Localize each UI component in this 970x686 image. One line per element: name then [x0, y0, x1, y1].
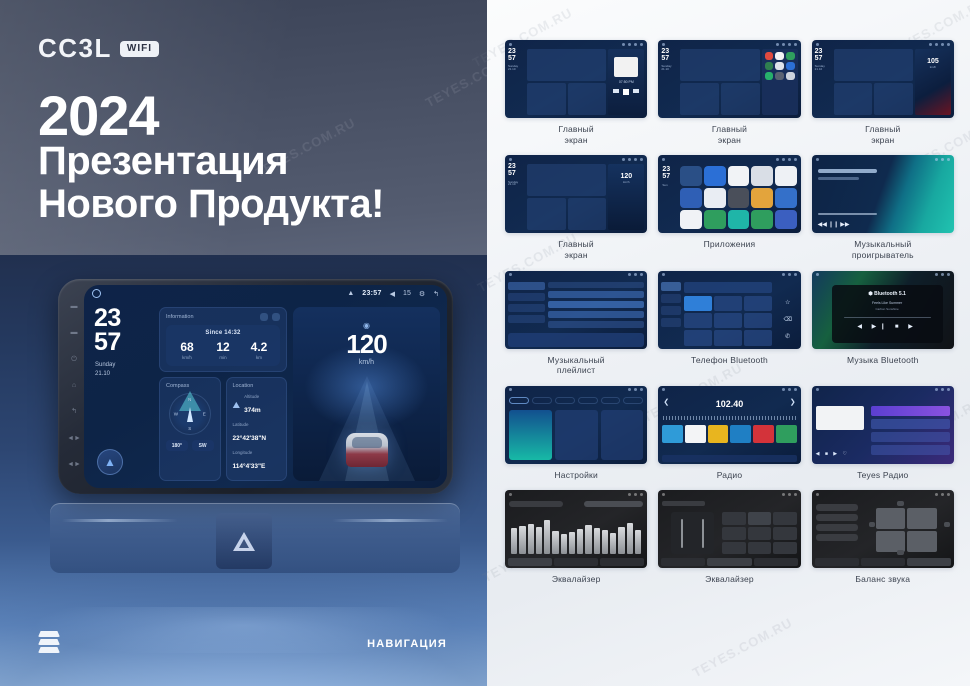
clock-minutes: 57	[91, 331, 153, 355]
gallery-item[interactable]: Баланс звука	[812, 490, 954, 585]
gallery-caption: Главныйэкран	[559, 124, 594, 145]
radio-frequency: 102.40	[658, 399, 800, 409]
stat-unit: km	[241, 355, 277, 360]
balance-left-button[interactable]	[869, 522, 875, 527]
next-station-icon[interactable]: ❯	[790, 398, 796, 406]
thumb-speed-value: 105	[927, 58, 939, 65]
gallery-caption: Главныйэкран	[865, 124, 900, 145]
speed-unit: km/h	[293, 359, 440, 366]
mountain-icon: ⛰	[233, 400, 241, 411]
layers-icon[interactable]	[38, 631, 60, 653]
information-card-title: Information	[166, 314, 194, 320]
stat-value: 4.2	[241, 341, 277, 353]
balance-down-button[interactable]	[897, 550, 904, 555]
compass-w: W	[174, 412, 178, 417]
hero-footer: НАВИГАЦИЯ	[0, 600, 487, 686]
expand-icon[interactable]	[272, 313, 280, 321]
compass-e: E	[203, 412, 206, 417]
gallery-item[interactable]: 2357Sunday21.10 07:50 PM Главныйэкран	[505, 40, 647, 145]
product-logo: CC3L WIFI	[38, 33, 159, 64]
gallery-caption: Музыкальныйплейлист	[548, 355, 605, 376]
hazard-button[interactable]	[216, 513, 272, 569]
app-icon-grid[interactable]	[680, 166, 796, 229]
thumbnail-apps[interactable]: 2357Sun	[658, 155, 800, 233]
since-label: Since 14:32	[169, 330, 277, 336]
speed-panel-background: ◉ 120 km/h	[293, 307, 440, 481]
altitude-value: 374m	[244, 407, 261, 414]
balance-right-button[interactable]	[944, 522, 950, 527]
next-track-icon[interactable]: ◄►	[67, 461, 81, 468]
gallery-caption: Главныйэкран	[712, 124, 747, 145]
widgets-column: Information Since 14:32	[159, 307, 287, 481]
gallery-caption: Музыкальныйпроигрыватель	[852, 239, 914, 260]
compass-s: S	[188, 426, 191, 431]
thumbnail-home-apps[interactable]: 2357Sunday21.10	[658, 40, 800, 118]
gallery-item[interactable]: ⬢ Bluetooth 5.1 Feels Like Summer Carbon…	[812, 271, 954, 376]
gallery-item[interactable]: 2357Sun	[658, 155, 800, 260]
information-card[interactable]: Information Since 14:32	[159, 307, 287, 372]
watermark: TEYES.COM.RU	[690, 615, 795, 680]
screenshot-gallery: TEYES.COM.RU TEYES.COM.RU TEYES.COM.RU T…	[487, 0, 970, 686]
car-3d-graphic	[346, 433, 388, 467]
status-bar: ▲ 23:57 ◀ 15 ⚙ ↰	[84, 285, 447, 302]
gallery-caption: Приложения	[704, 239, 756, 250]
backspace-icon[interactable]: ⌫	[783, 316, 791, 323]
stat-distance: 4.2 km	[241, 341, 277, 360]
thumbnail-bt-music[interactable]: ⬢ Bluetooth 5.1 Feels Like Summer Carbon…	[812, 271, 954, 349]
thumbnail-teyes-radio[interactable]: ◀ ■ ▶ ♡	[812, 386, 954, 464]
stat-speed: 68 km/h	[169, 341, 205, 360]
stat-value: 68	[169, 341, 205, 353]
balance-up-button[interactable]	[897, 501, 904, 506]
hero-headline-line2: Нового Продукта!	[38, 183, 384, 226]
thumbnail-home-media[interactable]: 2357Sunday21.10 07:50 PM	[505, 40, 647, 118]
gallery-item[interactable]: Музыкальныйплейлист	[505, 271, 647, 376]
gallery-caption: Главныйэкран	[559, 239, 594, 260]
head-unit-screen[interactable]: ▲ 23:57 ◀ 15 ⚙ ↰ 23 57 Sunday	[84, 285, 447, 488]
head-unit-side-keys[interactable]: ▬ ▬ ⏻ ⌂ ↰ ◄► ◄►	[65, 293, 83, 478]
compass-n: N	[188, 397, 191, 402]
thumbnail-equalizer-bars[interactable]	[505, 490, 647, 568]
speed-panel[interactable]: ◉ 120 km/h	[293, 307, 440, 481]
wifi-icon: ▲	[347, 290, 354, 297]
power-icon[interactable]: ⏻	[71, 356, 77, 363]
longitude-label: Longitude	[233, 450, 281, 455]
compass-dial: N E S W	[169, 393, 211, 435]
back-icon[interactable]: ↰	[71, 408, 77, 415]
gallery-caption: Музыка Bluetooth	[847, 355, 919, 366]
gear-icon[interactable]: ⚙	[419, 290, 425, 298]
thumbnail-home-speed[interactable]: 2357Sunday21.10 105km/h	[812, 40, 954, 118]
compass-card-title: Compass	[166, 383, 189, 389]
logo-wifi-badge: WIFI	[120, 41, 159, 57]
longitude-value: 114°4'33"E	[233, 463, 266, 470]
thumbnail-equalizer-presets[interactable]	[658, 490, 800, 568]
prev-station-icon[interactable]: ❮	[663, 398, 669, 406]
location-card-title: Location	[233, 383, 254, 389]
presentation-slide: TEYES.COM.RU TEYES.COM.RU TEYES.COM.RU T…	[0, 0, 970, 686]
compass-needle	[187, 407, 193, 422]
prev-track-icon[interactable]: ◄►	[67, 435, 81, 442]
latitude-label: Latitude	[233, 422, 281, 427]
refresh-icon[interactable]	[260, 313, 268, 321]
compass-bearing: 180°	[166, 440, 188, 451]
hero-headline-line1: Презентация	[38, 140, 288, 183]
gallery-item[interactable]: ◀ ■ ▶ ♡ Teyes Радио	[812, 386, 954, 481]
gallery-caption: Телефон Bluetooth	[691, 355, 768, 366]
hazard-triangle-icon	[233, 532, 255, 551]
location-card[interactable]: Location ⛰ Altitude 374m	[226, 377, 288, 481]
thumbnail-sound-balance[interactable]	[812, 490, 954, 568]
gallery-caption: Эквалайзер	[705, 574, 754, 585]
logo-text: CC3L	[38, 33, 112, 64]
watermark: TEYES.COM.RU	[423, 45, 487, 110]
favorite-icon[interactable]: ☆	[785, 299, 790, 306]
volume-icon[interactable]: ◀	[390, 290, 395, 298]
status-time: 23:57	[362, 290, 381, 297]
gallery-caption: Эквалайзер	[552, 574, 601, 585]
stat-value: 12	[205, 341, 241, 353]
gallery-caption: Баланс звука	[855, 574, 910, 585]
stat-time: 12 min	[205, 341, 241, 360]
gallery-item[interactable]: ◀◀ ❙❙ ▶▶ Музыкальныйпроигрыватель	[812, 155, 954, 260]
head-unit-bezel: ▬ ▬ ⏻ ⌂ ↰ ◄► ◄► ▲ 23:57 ◀ 15	[58, 279, 453, 494]
thumb-speed-value: 120	[620, 173, 632, 180]
clock-date: 21.10	[91, 370, 153, 379]
volume-up-icon[interactable]: ▬	[71, 303, 78, 310]
navigation-label: НАВИГАЦИЯ	[367, 638, 447, 650]
stat-unit: min	[205, 355, 241, 360]
home-icon[interactable]	[92, 289, 101, 298]
volume-value: 15	[403, 290, 411, 297]
latitude-value: 22°42'38"N	[233, 435, 267, 442]
thumbnail-home-speed[interactable]: 2357Sunday21.10 120km/h	[505, 155, 647, 233]
clock-weekday: Sunday	[91, 361, 153, 370]
gallery-caption: Настройки	[554, 470, 597, 481]
thumbnail-music-player[interactable]: ◀◀ ❙❙ ▶▶	[812, 155, 954, 233]
gallery-item[interactable]: Эквалайзер	[658, 490, 800, 585]
gallery-item[interactable]: ☆ ⌫ ✆ Телефон Bluetooth	[658, 271, 800, 376]
hero-year: 2024	[38, 88, 159, 144]
stat-unit: km/h	[169, 355, 205, 360]
thumbnail-settings[interactable]	[505, 386, 647, 464]
gallery-caption: Teyes Радио	[857, 470, 908, 481]
gallery-item[interactable]: 2357Sunday21.10 105km/h Главныйэкран	[812, 40, 954, 145]
volume-down-icon[interactable]: ▬	[71, 329, 78, 336]
thumbnail-bt-phone[interactable]: ☆ ⌫ ✆	[658, 271, 800, 349]
altitude-label: Altitude	[244, 394, 261, 399]
clock-widget[interactable]: 23 57 Sunday 21.10 ▲	[91, 307, 153, 481]
gallery-item[interactable]: 2357Sunday21.10 120km/h Главныйэкран	[505, 155, 647, 260]
gallery-grid: 2357Sunday21.10 07:50 PM Главныйэкран	[505, 40, 954, 585]
gallery-item[interactable]: 102.40 ❮ ❯ Радио	[658, 386, 800, 481]
navigation-arrow-icon[interactable]: ▲	[97, 449, 123, 475]
hero-panel: TEYES.COM.RU TEYES.COM.RU TEYES.COM.RU T…	[0, 0, 487, 686]
compass-card[interactable]: Compass N E S W 180°	[159, 377, 221, 481]
gallery-item[interactable]: Настройки	[505, 386, 647, 481]
home-screen: 23 57 Sunday 21.10 ▲ Information	[84, 302, 447, 488]
call-icon[interactable]: ✆	[785, 333, 790, 340]
home-icon[interactable]: ⌂	[72, 382, 76, 389]
gallery-caption: Радио	[717, 470, 743, 481]
back-icon[interactable]: ↰	[433, 290, 439, 298]
compass-direction: SW	[192, 440, 214, 451]
equalizer-sliders[interactable]	[511, 508, 641, 554]
thumbnail-radio[interactable]: 102.40 ❮ ❯	[658, 386, 800, 464]
gallery-item[interactable]: 2357Sunday21.10	[658, 40, 800, 145]
gallery-item[interactable]: Эквалайзер	[505, 490, 647, 585]
speed-value: 120	[293, 331, 440, 357]
thumbnail-music-playlist[interactable]	[505, 271, 647, 349]
